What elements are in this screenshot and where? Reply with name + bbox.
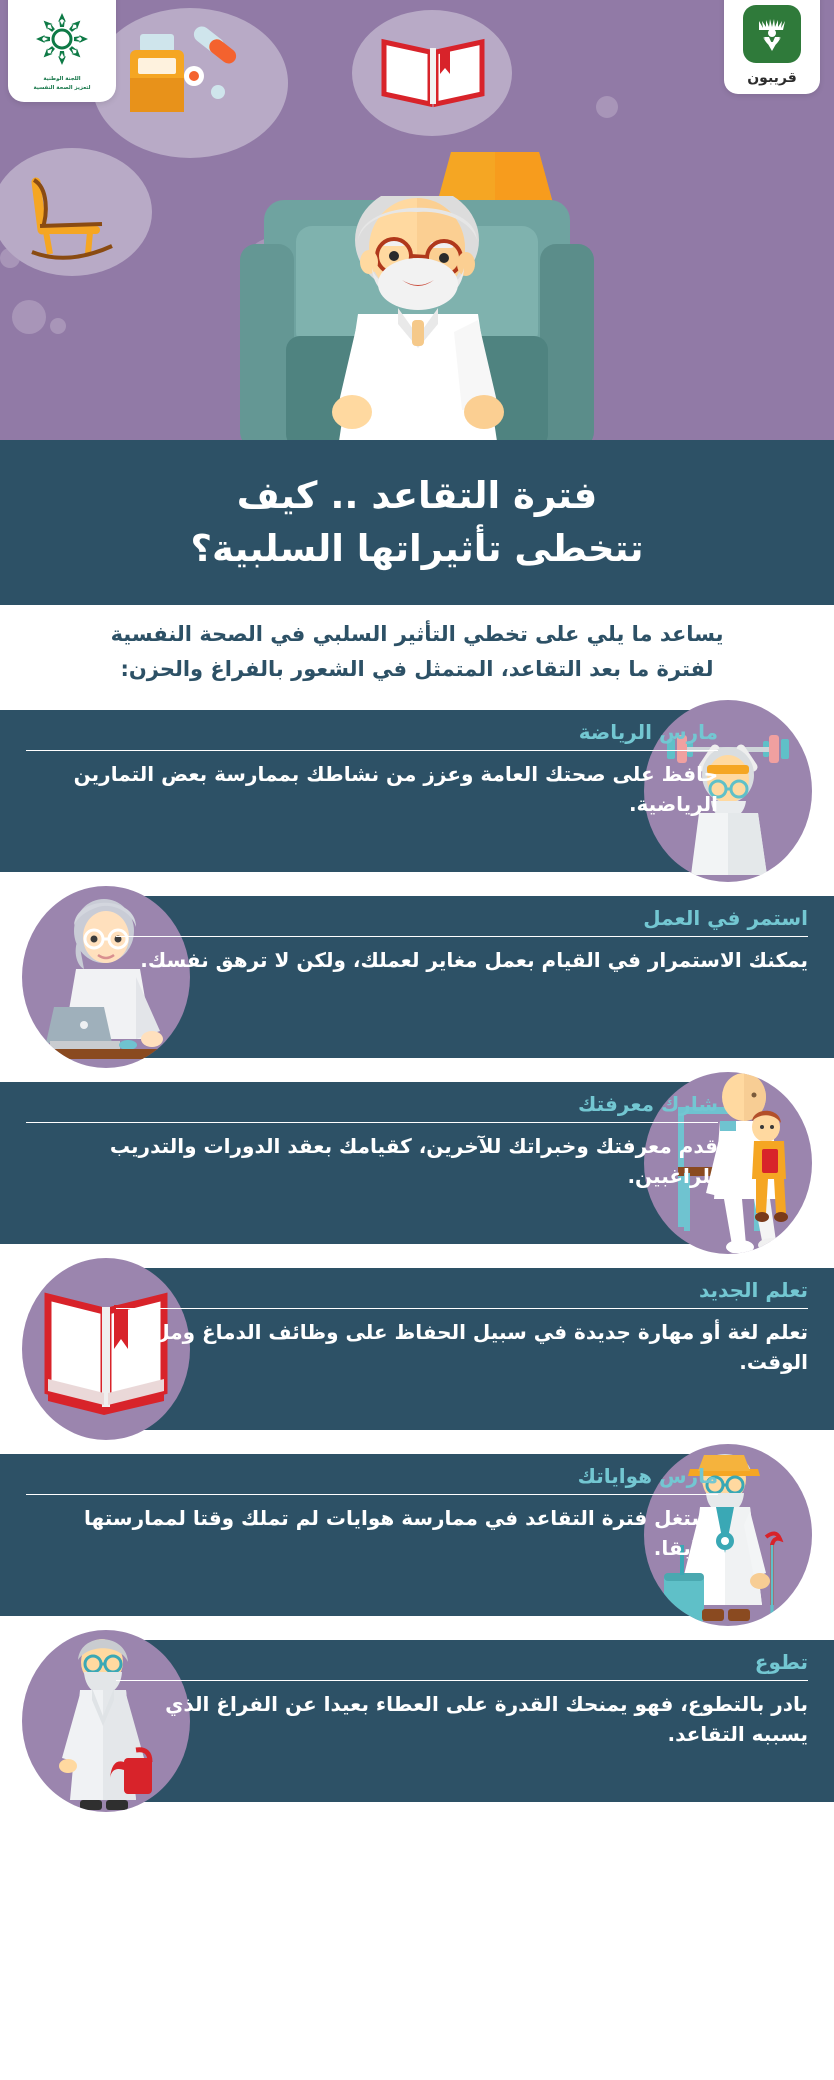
tip-text: مارس هواياتك استغل فترة التقاعد في ممارس…	[26, 1464, 718, 1564]
tip-text: شارك معرفتك قدم معرفتك وخبراتك للآخرين، …	[26, 1092, 718, 1192]
medicine-bottle-and-pills-icon	[122, 26, 262, 130]
tip-heading: تطوع	[116, 1650, 808, 1674]
logo-name-line2: لتعزيز الصحة النفسية	[34, 84, 91, 92]
tip-text: تطوع بادر بالتطوع، فهو يمنحك القدرة على …	[116, 1650, 808, 1750]
tip-item: شارك معرفتك قدم معرفتك وخبراتك للآخرين، …	[0, 1070, 834, 1256]
tip-item: تطوع بادر بالتطوع، فهو يمنحك القدرة على …	[0, 1628, 834, 1814]
tip-heading: استمر في العمل	[116, 906, 808, 930]
qareeboon-app-icon	[743, 5, 801, 63]
tip-heading: شارك معرفتك	[26, 1092, 718, 1116]
tip-body: بادر بالتطوع، فهو يمنحك القدرة على العطا…	[116, 1680, 808, 1750]
tip-heading: مارس هواياتك	[26, 1464, 718, 1488]
tip-text: تعلم الجديد تعلم لغة أو مهارة جديدة في س…	[116, 1278, 808, 1378]
hero-illustration: اللجنة الوطنية لتعزيز الصحة النفسية قريب…	[0, 0, 834, 440]
tip-item: مارس هواياتك استغل فترة التقاعد في ممارس…	[0, 1442, 834, 1628]
tip-item: تعلم الجديد تعلم لغة أو مهارة جديدة في س…	[0, 1256, 834, 1442]
tip-body: حافظ على صحتك العامة وعزز من نشاطك بممار…	[26, 750, 718, 820]
intro-line-1: يساعد ما يلي على تخطي التأثير السلبي في …	[111, 622, 724, 646]
tips-list: مارس الرياضة حافظ على صحتك العامة وعزز م…	[0, 698, 834, 1814]
title-line-2: تتخطى تأثيراتها السلبية؟	[190, 527, 643, 570]
title-line-1: فترة التقاعد .. كيف	[237, 474, 597, 517]
tip-body: استغل فترة التقاعد في ممارسة هوايات لم ت…	[26, 1494, 718, 1564]
page-title: فترة التقاعد .. كيف تتخطى تأثيراتها السل…	[190, 470, 643, 575]
tip-body: تعلم لغة أو مهارة جديدة في سبيل الحفاظ ع…	[116, 1308, 808, 1378]
tip-item: مارس الرياضة حافظ على صحتك العامة وعزز م…	[0, 698, 834, 884]
organization-logo-card: اللجنة الوطنية لتعزيز الصحة النفسية	[8, 0, 116, 102]
app-badge-card[interactable]: قريبون	[724, 0, 820, 94]
national-mental-health-committee-logo	[31, 8, 93, 70]
badge-name: قريبون	[747, 70, 797, 86]
open-book-icon	[378, 30, 488, 114]
tip-text: استمر في العمل يمكنك الاستمرار في القيام…	[116, 906, 808, 975]
tip-body: يمكنك الاستمرار في القيام بعمل مغاير لعم…	[116, 936, 808, 975]
elderly-man-in-armchair-illustration	[212, 196, 622, 440]
tip-item: استمر في العمل يمكنك الاستمرار في القيام…	[0, 884, 834, 1070]
logo-name-line1: اللجنة الوطنية	[34, 75, 91, 83]
rocking-chair-icon	[18, 168, 126, 260]
intro-line-2: لفترة ما بعد التقاعد، المتمثل في الشعور …	[120, 657, 713, 681]
tip-heading: مارس الرياضة	[26, 720, 718, 744]
tip-text: مارس الرياضة حافظ على صحتك العامة وعزز م…	[26, 720, 718, 820]
tip-heading: تعلم الجديد	[116, 1278, 808, 1302]
intro-section: يساعد ما يلي على تخطي التأثير السلبي في …	[0, 605, 834, 698]
intro-paragraph: يساعد ما يلي على تخطي التأثير السلبي في …	[111, 617, 724, 685]
title-block: فترة التقاعد .. كيف تتخطى تأثيراتها السل…	[0, 440, 834, 605]
tip-body: قدم معرفتك وخبراتك للآخرين، كقيامك بعقد …	[26, 1122, 718, 1192]
